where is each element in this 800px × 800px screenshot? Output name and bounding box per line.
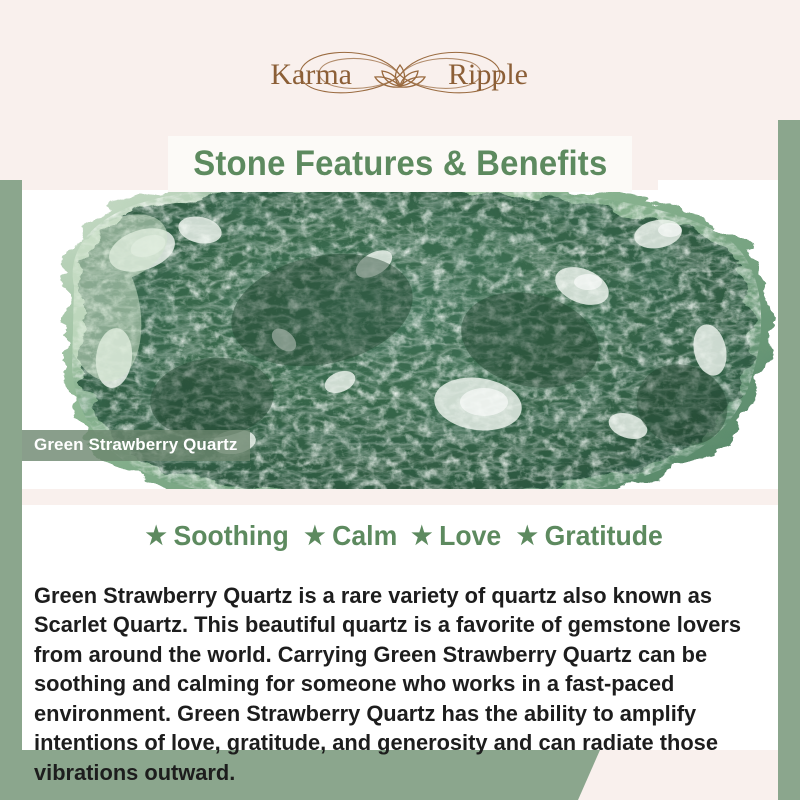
frame-accent-left bbox=[0, 180, 22, 800]
frame-accent-right bbox=[778, 0, 800, 800]
keyword-list: ★ Soothing ★ Calm ★ Love ★ Gratitude bbox=[22, 517, 778, 555]
keyword-label: Gratitude bbox=[544, 520, 662, 552]
header-bar: Karma Ripple bbox=[0, 0, 800, 120]
star-icon: ★ bbox=[516, 524, 537, 549]
brand-word-left: Karma bbox=[270, 58, 352, 91]
photo-underline-strip bbox=[22, 489, 778, 505]
star-icon: ★ bbox=[411, 524, 432, 549]
lotus-infinity-icon: Karma Ripple bbox=[240, 44, 560, 106]
star-icon: ★ bbox=[146, 524, 167, 549]
stone-info-card: Karma Ripple Stone Features & Benefits bbox=[0, 0, 800, 800]
page-title: Stone Features & Benefits bbox=[193, 144, 607, 184]
keyword-item-love: ★ Love bbox=[403, 520, 502, 552]
keyword-item-calm: ★ Calm bbox=[296, 520, 398, 552]
brand-word-right: Ripple bbox=[448, 58, 528, 91]
photo-caption: Green Strawberry Quartz bbox=[22, 430, 250, 461]
stone-description: Green Strawberry Quartz is a rare variet… bbox=[34, 581, 754, 788]
keyword-item-gratitude: ★ Gratitude bbox=[508, 520, 663, 552]
brand-logo[interactable]: Karma Ripple bbox=[0, 44, 800, 106]
keyword-label: Calm bbox=[332, 520, 397, 552]
keyword-label: Soothing bbox=[174, 520, 289, 552]
title-banner: Stone Features & Benefits bbox=[168, 136, 632, 192]
star-icon: ★ bbox=[304, 524, 325, 549]
keyword-label: Love bbox=[439, 520, 501, 552]
stone-photo: Green Strawberry Quartz bbox=[22, 190, 778, 489]
keyword-item-soothing: ★ Soothing bbox=[137, 520, 289, 552]
